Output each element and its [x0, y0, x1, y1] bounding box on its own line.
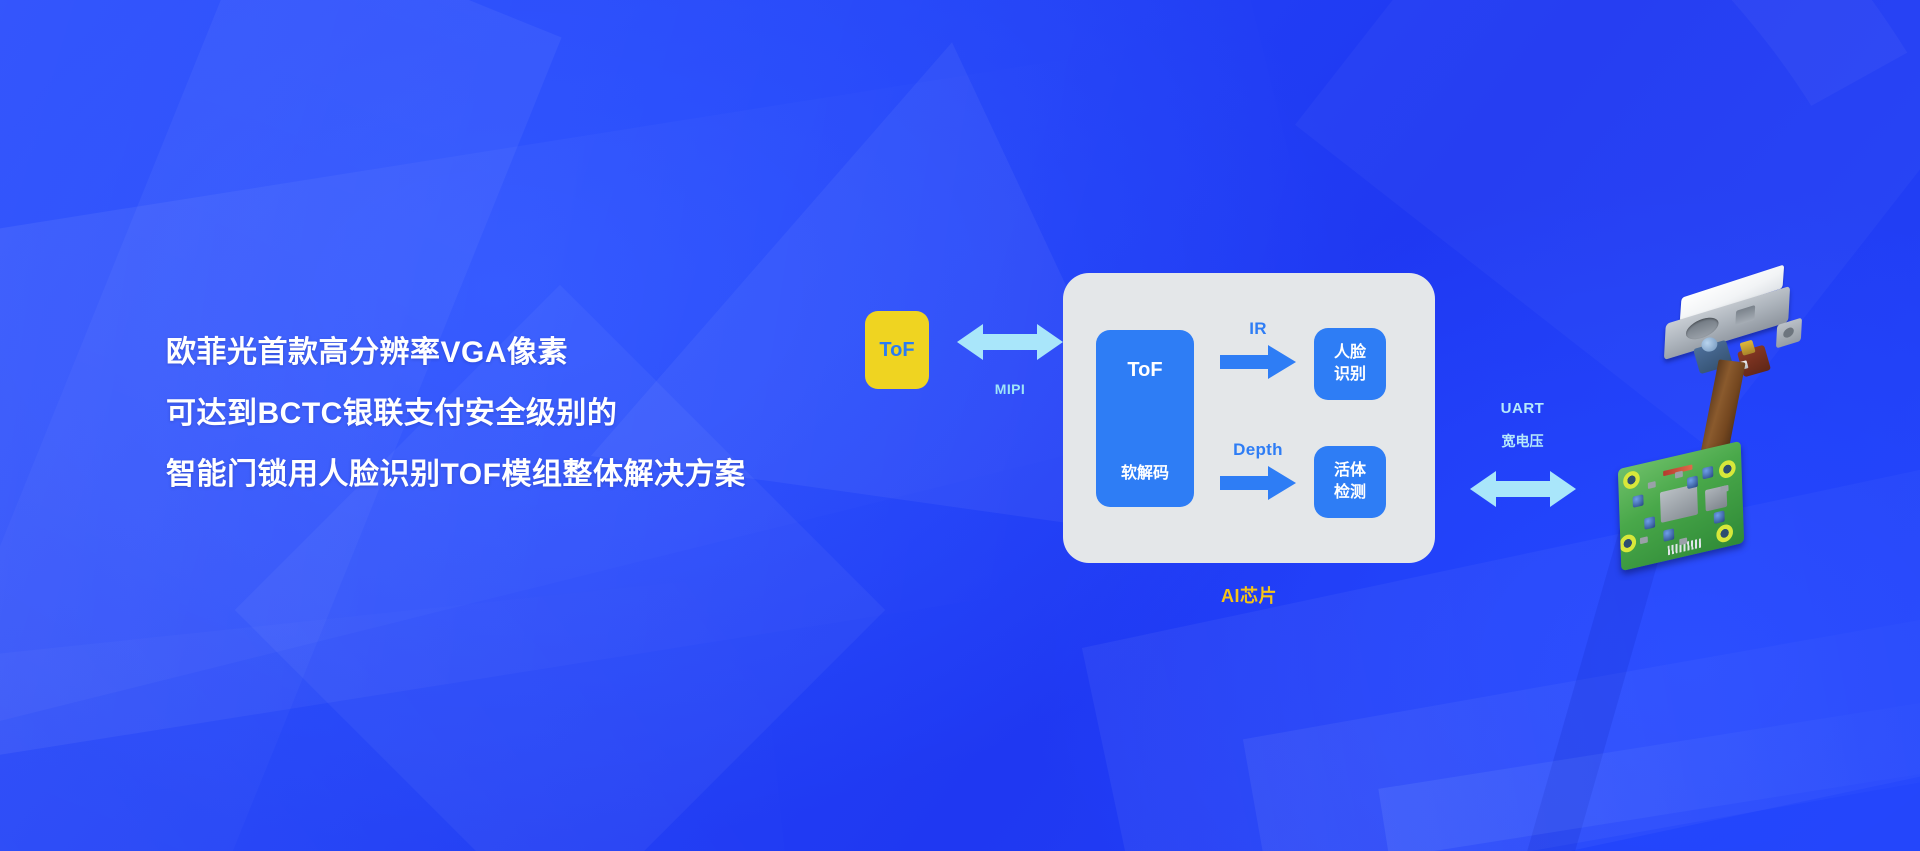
pcb-capacitor	[1663, 528, 1674, 542]
right-arrow-icon	[1220, 466, 1296, 500]
output-liveness-detection: 活体 检测	[1314, 446, 1386, 518]
chip-tof-subtitle: 软解码	[1096, 459, 1194, 483]
pcb-main-ic	[1660, 484, 1698, 523]
pcb-component	[1675, 471, 1683, 479]
chip-tof-block: ToF 软解码	[1096, 330, 1194, 507]
pcb-component	[1721, 485, 1729, 493]
flow-ir-label: IR	[1213, 319, 1303, 339]
pcb-capacitor	[1714, 510, 1725, 524]
uart-arrow-wrap	[1440, 467, 1605, 516]
controller-pcb	[1618, 441, 1744, 571]
pcb-component	[1640, 536, 1648, 544]
pcb-capacitor	[1702, 466, 1713, 480]
output-liveness-line-2: 检测	[1334, 482, 1366, 504]
ai-chip-body: ToF 软解码 IR Depth 人脸 识别 活体 检测	[1063, 273, 1435, 563]
output-face-line-2: 识别	[1334, 364, 1366, 386]
right-arrow-icon	[1220, 345, 1296, 379]
ai-chip-caption: AI芯片	[1063, 582, 1435, 608]
headline-line-3: 智能门锁用人脸识别TOF模组整体解决方案	[166, 444, 846, 505]
chip-tof-title: ToF	[1096, 359, 1194, 382]
headline-line-1: 欧菲光首款高分辨率VGA像素	[166, 322, 846, 383]
flow-depth: Depth	[1213, 440, 1303, 505]
pcb-mount-hole	[1716, 523, 1733, 544]
tof-sensor-label: ToF	[879, 339, 914, 362]
pcb-mount-hole	[1619, 533, 1636, 554]
tof-sensor-block: ToF	[865, 311, 929, 389]
output-face-line-1: 人脸	[1334, 342, 1366, 364]
double-arrow-icon	[1470, 467, 1576, 511]
headline-line-2: 可达到BCTC银联支付安全级别的	[166, 383, 846, 444]
headline-block: 欧菲光首款高分辨率VGA像素 可达到BCTC银联支付安全级别的 智能门锁用人脸识…	[166, 322, 846, 505]
flow-ir: IR	[1213, 319, 1303, 384]
mipi-label: MIPI	[945, 381, 1075, 397]
pcb-mount-hole	[1623, 469, 1640, 490]
pcb-capacitor	[1633, 494, 1644, 508]
pcb-component	[1648, 481, 1656, 489]
voltage-label: 宽电压	[1440, 431, 1605, 451]
output-liveness-line-1: 活体	[1334, 460, 1366, 482]
banner-stage: 欧菲光首款高分辨率VGA像素 可达到BCTC银联支付安全级别的 智能门锁用人脸识…	[0, 0, 1920, 851]
uart-link-group: UART 宽电压	[1440, 400, 1605, 516]
double-arrow-icon	[957, 320, 1063, 364]
output-face-recognition: 人脸 识别	[1314, 328, 1386, 400]
uart-label: UART	[1440, 400, 1605, 417]
pcb-mount-hole	[1719, 459, 1736, 480]
flow-depth-label: Depth	[1213, 440, 1303, 460]
hardware-module-photo	[1600, 280, 1900, 580]
mipi-link-group: MIPI	[945, 320, 1075, 397]
pcb-capacitor	[1644, 516, 1655, 530]
